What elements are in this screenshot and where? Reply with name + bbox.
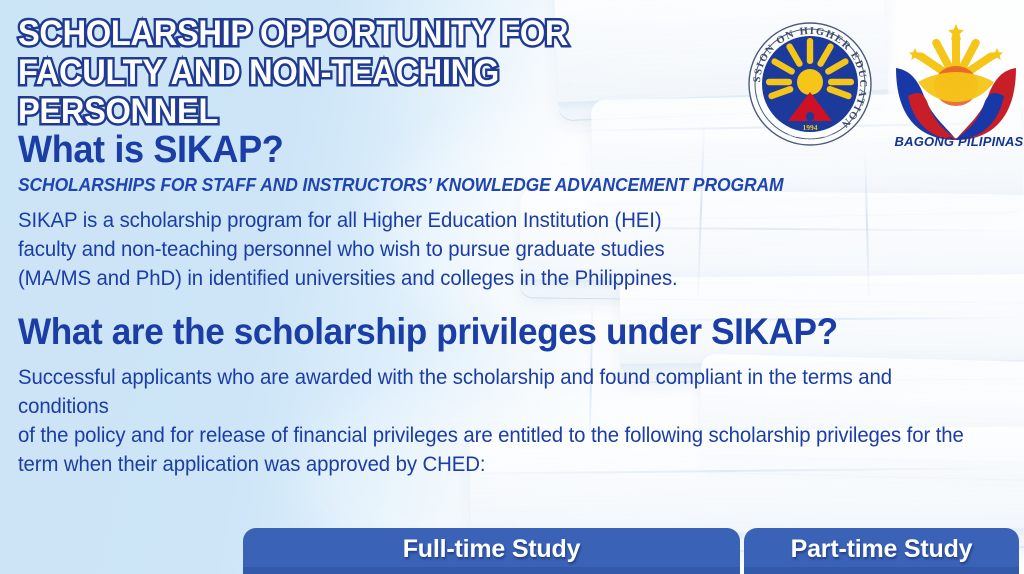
poster-title: SCHOLARSHIP OPPORTUNITY FOR FACULTY AND … <box>18 14 669 131</box>
section-heading-what-is-sikap: What is SIKAP? <box>18 128 959 172</box>
section-subtitle-sikap-acronym: SCHOLARSHIPS FOR STAFF AND INSTRUCTORS’ … <box>18 174 978 196</box>
privileges-table-header: Full-time Study Part-time Study <box>243 528 1019 574</box>
table-header-label: Full-time Study <box>403 535 581 564</box>
table-header-part-time-study[interactable]: Part-time Study <box>744 528 1019 574</box>
poster-header: SCHOLARSHIP OPPORTUNITY FOR FACULTY AND … <box>18 14 718 131</box>
table-header-full-time-study[interactable]: Full-time Study <box>243 528 740 574</box>
section-body-privileges: Successful applicants who are awarded wi… <box>18 363 973 479</box>
section-heading-privileges: What are the scholarship privileges unde… <box>18 311 959 353</box>
scholarship-poster: SCHOLARSHIP OPPORTUNITY FOR FACULTY AND … <box>0 0 1024 574</box>
table-header-label: Part-time Study <box>791 535 973 564</box>
poster-content: What is SIKAP? SCHOLARSHIPS FOR STAFF AN… <box>18 128 1008 479</box>
section-body-what-is-sikap: SIKAP is a scholarship program for all H… <box>18 206 978 293</box>
logo-row: 1994 OFFICE OF THE PRESIDENT OF THE PHIL… <box>742 16 1024 142</box>
